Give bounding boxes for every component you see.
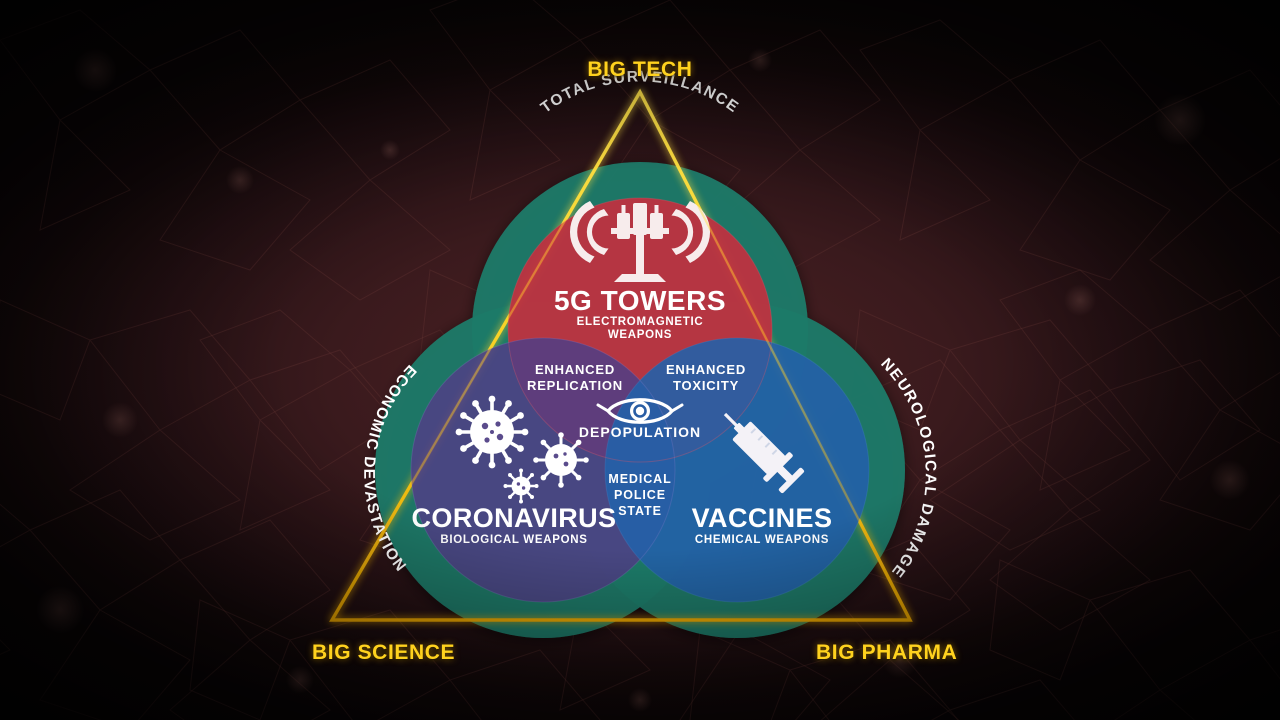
intersection-top-right-line2: TOXICITY <box>673 378 739 393</box>
intersection-left-right-line1: MEDICAL <box>608 472 671 486</box>
right-circle-subtitle-1: CHEMICAL WEAPONS <box>695 534 829 546</box>
intersection-left-right-line3: STATE <box>618 504 662 518</box>
intersection-left-right-line2: POLICE <box>614 488 666 502</box>
vertex-label-big-tech: BIG TECH <box>0 58 1280 82</box>
vertex-label-big-science: BIG SCIENCE <box>312 641 455 665</box>
top-circle-subtitle-1: ELECTROMAGNETIC <box>577 316 704 328</box>
left-circle-text: CORONAVIRUS BIOLOGICAL WEAPONS <box>412 503 617 546</box>
right-circle-text: VACCINES CHEMICAL WEAPONS <box>692 503 833 546</box>
top-circle-subtitle-2: WEAPONS <box>608 329 672 341</box>
intersection-top-right: ENHANCED TOXICITY <box>666 362 746 393</box>
poster-canvas: TOTAL SURVEILLANCE ECONOMIC DEVASTATION … <box>0 0 1280 720</box>
intersection-center-label: DEPOPULATION <box>579 424 701 440</box>
right-circle-title: VACCINES <box>692 503 833 533</box>
left-circle-title: CORONAVIRUS <box>412 503 617 533</box>
vertex-label-big-pharma: BIG PHARMA <box>816 641 957 665</box>
intersection-top-left-line2: REPLICATION <box>527 378 623 393</box>
venn-diagram: TOTAL SURVEILLANCE ECONOMIC DEVASTATION … <box>0 0 1280 720</box>
top-circle-title: 5G TOWERS <box>554 285 726 316</box>
intersection-top-left-line1: ENHANCED <box>535 362 615 377</box>
intersection-top-right-line1: ENHANCED <box>666 362 746 377</box>
left-circle-subtitle-1: BIOLOGICAL WEAPONS <box>440 534 587 546</box>
intersection-top-left: ENHANCED REPLICATION <box>527 362 623 393</box>
